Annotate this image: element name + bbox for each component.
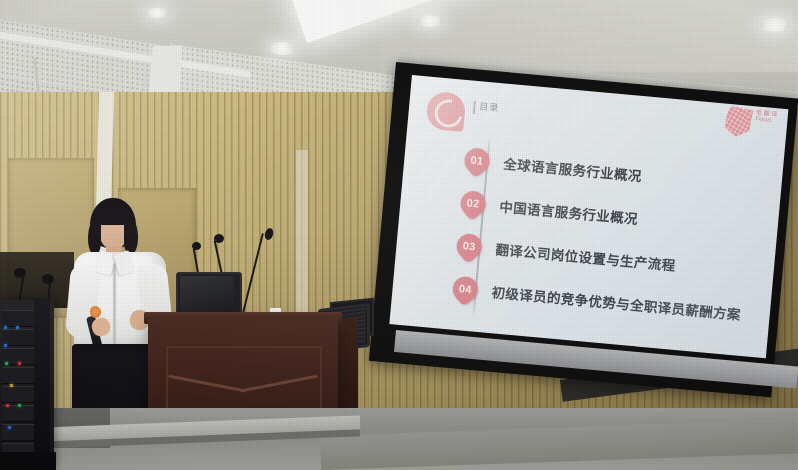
status-led-icon [10, 384, 13, 387]
toc-item: 02 中国语言服务行业概况 [459, 185, 639, 235]
toc-item-label: 翻译公司岗位设置与生产流程 [495, 238, 677, 274]
status-led-icon [4, 326, 7, 329]
av-rack-unit[interactable] [2, 310, 34, 327]
presentation-slide: 目录 老 翻 译 Focus 01 全球语言服务行业概况 02 中国语言服务行业… [389, 75, 788, 358]
brand-logo: 老 翻 译 Focus [723, 102, 784, 147]
toc-item-label: 全球语言服务行业概况 [503, 153, 643, 186]
status-led-icon [18, 362, 21, 365]
toc-item-label: 中国语言服务行业概况 [499, 196, 639, 229]
slide-title: 目录 [479, 99, 500, 114]
av-rack-unit[interactable] [2, 405, 34, 422]
toc-pin-icon: 02 [456, 185, 491, 220]
slide-header: 目录 [424, 91, 628, 157]
status-led-icon [18, 404, 21, 407]
av-rack-unit[interactable] [2, 386, 34, 403]
downlight-icon [146, 8, 168, 18]
presenter-hair-left [88, 220, 101, 254]
status-led-icon [6, 404, 9, 407]
toc-item: 04 初级译员的竞争优势与全职译员薪酬方案 [451, 271, 742, 331]
downlight-icon [760, 18, 790, 32]
microphone-head-icon [42, 274, 54, 284]
toc-pin-icon: 03 [452, 228, 487, 263]
toc-pin-icon: 04 [448, 271, 483, 306]
toc-item-label: 初级译员的竞争优势与全职译员薪酬方案 [491, 281, 742, 324]
toc-divider [473, 101, 476, 114]
podium-monitor-screen [180, 276, 234, 313]
toc-item-number: 02 [460, 189, 487, 216]
status-led-icon [4, 344, 7, 347]
toc-item-number: 04 [452, 275, 479, 302]
toc-item-number: 01 [463, 147, 490, 174]
microphone-head-icon [192, 242, 201, 250]
toc-pin-icon: 01 [459, 143, 494, 178]
toc-item-number: 03 [456, 232, 483, 259]
brand-mark-icon [724, 106, 754, 138]
av-rack-unit[interactable] [2, 424, 34, 441]
av-rack-base [0, 452, 56, 470]
presentation-room-photo: 目录 老 翻 译 Focus 01 全球语言服务行业概况 02 中国语言服务行业… [0, 0, 798, 470]
downlight-icon [417, 15, 443, 27]
status-led-icon [16, 326, 19, 329]
microphone-head-icon [214, 234, 224, 243]
presenter-shirt-placket [113, 264, 116, 344]
presenter-hair-right [124, 218, 138, 254]
av-rack-door[interactable] [34, 298, 50, 470]
downlight-icon [268, 42, 296, 55]
status-led-icon [8, 426, 11, 429]
microphone-head-icon [14, 268, 26, 278]
status-led-icon [5, 362, 8, 365]
brand-name-en: Focus [755, 116, 772, 123]
podium-chevron-trim [172, 364, 314, 404]
av-rack-unit[interactable] [2, 367, 34, 384]
